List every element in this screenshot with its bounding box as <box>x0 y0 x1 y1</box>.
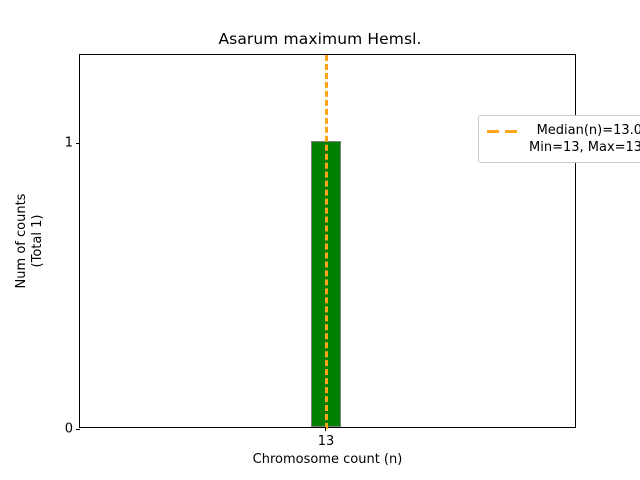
legend-label-median: Median(n)=13.0 <box>529 122 640 139</box>
y-tick-mark <box>76 143 80 144</box>
x-axis-label: Chromosome count (n) <box>79 452 576 467</box>
x-tick-label: 13 <box>318 434 335 449</box>
x-tick-mark <box>325 427 326 431</box>
chart-legend: Median(n)=13.0 Min=13, Max=13 <box>478 115 640 163</box>
chart-title: Asarum maximum Hemsl. <box>0 30 640 48</box>
matplotlib-figure: Asarum maximum Hemsl. 0 1 13 Median <box>0 0 640 480</box>
y-axis-label-line1: Num of counts <box>14 194 30 289</box>
y-tick-mark <box>76 429 80 430</box>
legend-text-block: Median(n)=13.0 Min=13, Max=13 <box>529 122 640 156</box>
legend-dashed-line-icon <box>487 122 521 139</box>
y-tick-label: 1 <box>65 136 73 151</box>
median-line <box>325 55 328 429</box>
y-axis-label-wrapper: Num of counts (Total 1) <box>0 0 60 480</box>
y-axis-label-line2: (Total 1) <box>30 194 46 289</box>
y-tick-label: 0 <box>65 422 73 437</box>
legend-label-minmax: Min=13, Max=13 <box>529 139 640 156</box>
plot-axes-area: 0 1 13 Median(n)=13.0 Min=13, Max=13 <box>79 54 576 428</box>
y-axis-label: Num of counts (Total 1) <box>14 194 46 289</box>
